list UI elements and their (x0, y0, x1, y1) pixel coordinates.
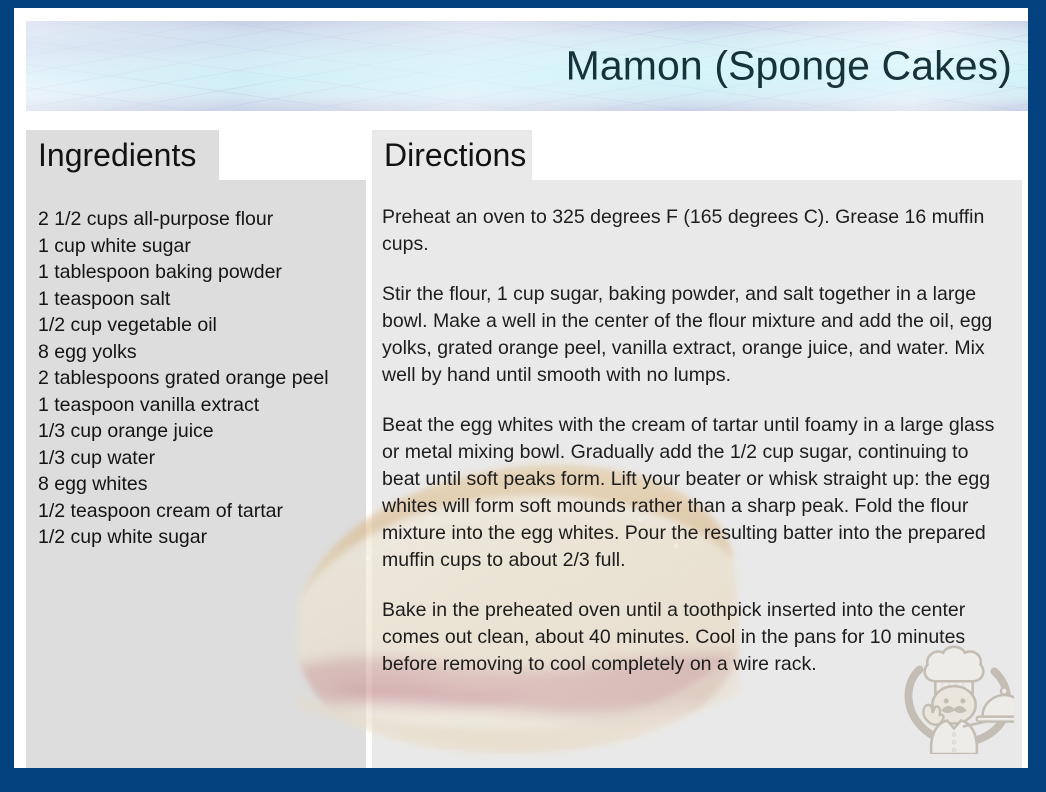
direction-step: Preheat an oven to 325 degrees F (165 de… (382, 204, 1008, 258)
direction-step: Bake in the preheated oven until a tooth… (382, 597, 1008, 678)
ingredient-item: 1 teaspoon salt (38, 286, 356, 313)
ingredient-item: 8 egg yolks (38, 339, 356, 366)
page-title: Mamon (Sponge Cakes) (566, 44, 1012, 87)
directions-panel: Preheat an oven to 325 degrees F (165 de… (372, 180, 1022, 768)
ingredient-item: 1/2 cup vegetable oil (38, 312, 356, 339)
direction-step: Beat the egg whites with the cream of ta… (382, 412, 1008, 574)
ingredient-item: 1 teaspoon vanilla extract (38, 392, 356, 419)
ingredient-item: 1 tablespoon baking powder (38, 259, 356, 286)
card-inner-plate: Mamon (Sponge Cakes) Ingredients Directi… (14, 8, 1028, 768)
directions-steps: Preheat an oven to 325 degrees F (165 de… (372, 180, 1022, 678)
ingredient-item: 1/3 cup water (38, 445, 356, 472)
directions-heading: Directions (372, 130, 532, 180)
ingredient-item: 1/3 cup orange juice (38, 418, 356, 445)
ingredient-item: 8 egg whites (38, 471, 356, 498)
ingredient-item: 1 cup white sugar (38, 233, 356, 260)
ingredient-item: 1/2 cup white sugar (38, 524, 356, 551)
ingredients-heading: Ingredients (26, 130, 219, 180)
recipe-card: Mamon (Sponge Cakes) Ingredients Directi… (0, 0, 1046, 792)
ingredients-panel: 2 1/2 cups all-purpose flour1 cup white … (26, 180, 366, 768)
ingredient-item: 1/2 teaspoon cream of tartar (38, 498, 356, 525)
direction-step: Stir the flour, 1 cup sugar, baking powd… (382, 281, 1008, 389)
ingredient-item: 2 tablespoons grated orange peel (38, 365, 356, 392)
header-banner: Mamon (Sponge Cakes) (26, 21, 1028, 111)
ingredient-item: 2 1/2 cups all-purpose flour (38, 206, 356, 233)
ingredient-list: 2 1/2 cups all-purpose flour1 cup white … (26, 180, 366, 551)
